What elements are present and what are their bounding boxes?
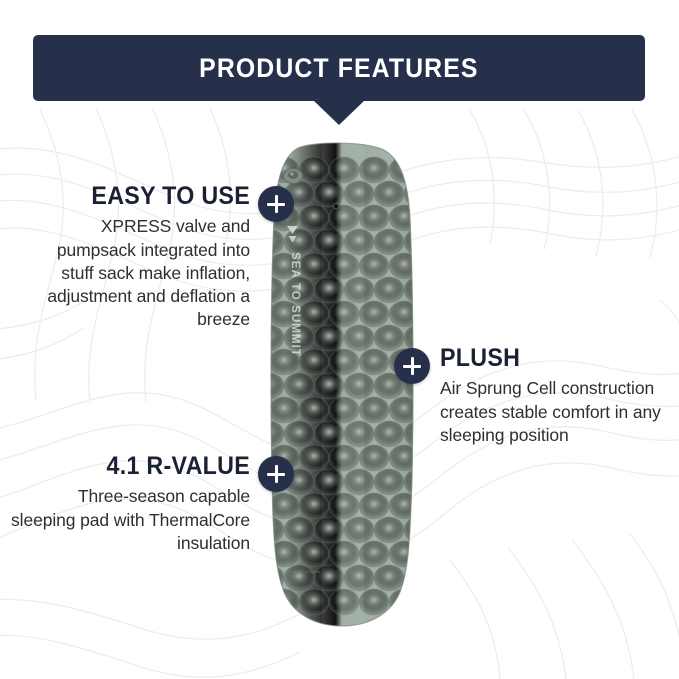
banner-pointer-tab [313, 100, 365, 125]
svg-text:SEA TO SUMMIT: SEA TO SUMMIT [289, 252, 301, 357]
feature-easy-to-use: EASY TO USE XPRESS valve and pumpsack in… [20, 183, 250, 332]
feature-body-plush: Air Sprung Cell construction creates sta… [440, 377, 665, 447]
feature-heading-plush: PLUSH [440, 345, 649, 371]
feature-body-easy-to-use: XPRESS valve and pumpsack integrated int… [20, 215, 250, 331]
feature-r-value: 4.1 R-VALUE Three-season capable sleepin… [10, 453, 250, 555]
infographic-canvas: PRODUCT FEATURES [0, 0, 679, 679]
page-title: PRODUCT FEATURES [199, 53, 478, 84]
plus-icon-plush[interactable] [394, 348, 430, 384]
feature-body-r-value: Three-season capable sleeping pad with T… [10, 485, 250, 555]
xpress-valve-icon [284, 169, 303, 184]
feature-heading-easy-to-use: EASY TO USE [36, 183, 250, 209]
feature-heading-r-value: 4.1 R-VALUE [27, 453, 250, 479]
plus-icon-easy-to-use[interactable] [258, 186, 294, 222]
plus-icon-r-value[interactable] [258, 456, 294, 492]
feature-plush: PLUSH Air Sprung Cell construction creat… [440, 345, 665, 447]
product-features-banner: PRODUCT FEATURES [33, 35, 645, 101]
